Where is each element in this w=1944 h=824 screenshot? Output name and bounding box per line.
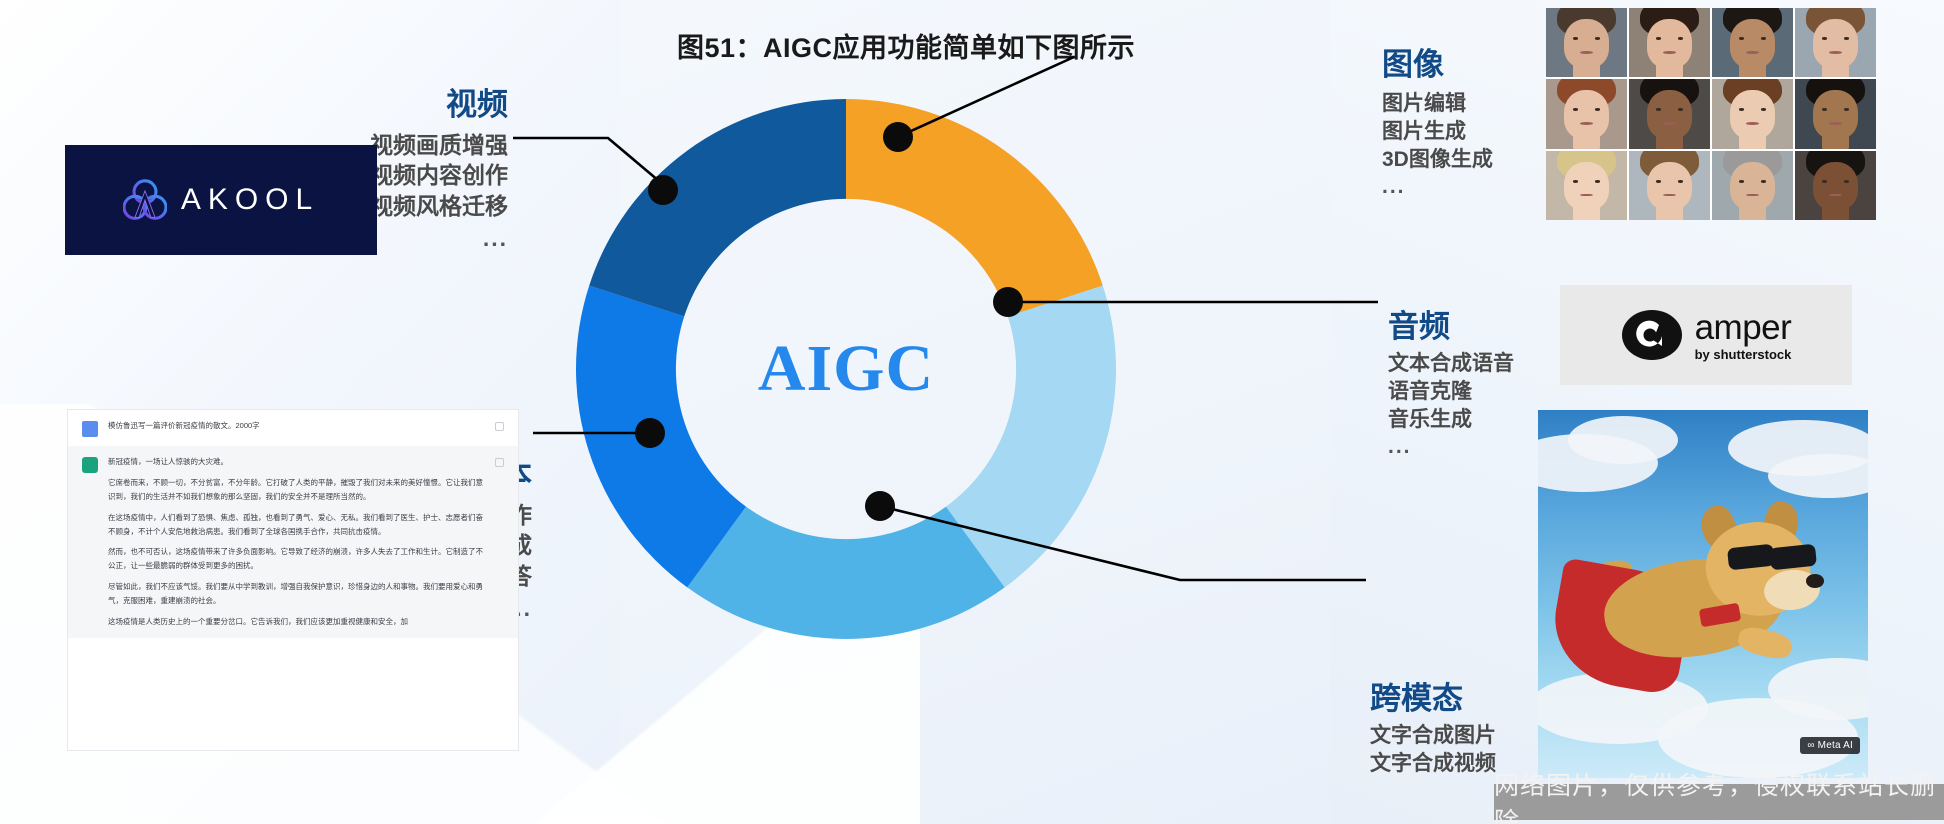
- amper-name: amper: [1695, 310, 1792, 345]
- amper-text-block: amper by shutterstock: [1695, 310, 1792, 361]
- generated-face-8: [1795, 79, 1876, 148]
- amper-subtitle: by shutterstock: [1695, 348, 1792, 361]
- donut-segment-视频[interactable]: [589, 99, 846, 316]
- chat-user-row: 模仿鲁迅写一篇评价新冠疫情的散文。2000字: [68, 410, 518, 446]
- amper-circle-icon: [1621, 309, 1683, 361]
- generated-faces-grid: [1546, 8, 1876, 220]
- chat-bot-paragraph-3: 然而，也不可否认，这场疫情带来了许多负面影响。它导致了经济的崩溃，许多人失去了工…: [108, 545, 485, 573]
- chat-bot-paragraph-4: 尽管如此，我们不应该气馁。我们要从中学到教训，增强自我保护意识，珍惜身边的人和事…: [108, 580, 485, 608]
- chat-bot-paragraph-1: 它席卷而来，不顾一切，不分贫富，不分年龄。它打破了人类的平静，摧毁了我们对未来的…: [108, 476, 485, 504]
- user-avatar-icon: [82, 421, 98, 437]
- generated-face-3: [1712, 8, 1793, 77]
- donut-svg: [561, 84, 1131, 654]
- meta-ai-watermark: ∞ Meta AI: [1800, 737, 1860, 754]
- dog-paw: [1736, 624, 1795, 662]
- generated-face-1: [1546, 8, 1627, 77]
- generated-face-4: [1795, 8, 1876, 77]
- generated-face-7: [1712, 79, 1793, 148]
- akool-wordmark: AKOOL: [181, 183, 319, 217]
- akool-trefoil-icon: [123, 179, 167, 221]
- chat-bot-paragraph-5: 这场疫情是人类历史上的一个重要分岔口。它告诉我们，我们应该更加重视健康和安全，加: [108, 615, 485, 629]
- cloud-shape: [1568, 416, 1678, 464]
- cloud-shape: [1768, 454, 1868, 498]
- generated-face-2: [1629, 8, 1710, 77]
- dog-nose: [1806, 574, 1824, 588]
- generated-face-9: [1546, 151, 1627, 220]
- assistant-avatar-icon: [82, 457, 98, 473]
- flying-dog-image: ∞ Meta AI: [1538, 410, 1868, 778]
- generated-face-10: [1629, 151, 1710, 220]
- aigc-donut-chart: AIGC: [561, 84, 1131, 654]
- page-title: 图51：AIGC应用功能简单如下图所示: [556, 26, 1256, 65]
- donut-segment-跨模态[interactable]: [687, 507, 1004, 639]
- generated-face-11: [1712, 151, 1793, 220]
- callout-video-heading: 视频: [318, 88, 508, 122]
- amper-logo-card: amper by shutterstock: [1560, 285, 1852, 385]
- chat-user-message: 模仿鲁迅写一篇评价新冠疫情的散文。2000字: [108, 419, 485, 433]
- donut-segment-图像[interactable]: [846, 99, 1103, 316]
- site-watermark: 网络图片，仅供参考，侵权联系站长删除: [1494, 784, 1944, 820]
- chat-bot-paragraph-2: 在这场疫情中，人们看到了恐惧、焦虑、孤独，也看到了勇气、爱心、无私。我们看到了医…: [108, 511, 485, 539]
- copy-icon[interactable]: [495, 458, 504, 467]
- chat-bot-message: 新冠疫情，一场让人惊骇的大灾难。 它席卷而来，不顾一切，不分贫富，不分年龄。它打…: [108, 455, 485, 629]
- donut-segments: [576, 99, 1116, 639]
- akool-logo-card: AKOOL: [65, 145, 377, 255]
- chat-bot-paragraph-0: 新冠疫情，一场让人惊骇的大灾难。: [108, 455, 485, 469]
- generated-face-5: [1546, 79, 1627, 148]
- chatgpt-screenshot: 模仿鲁迅写一篇评价新冠疫情的散文。2000字 新冠疫情，一场让人惊骇的大灾难。 …: [68, 410, 518, 750]
- generated-face-12: [1795, 151, 1876, 220]
- chat-bot-row: 新冠疫情，一场让人惊骇的大灾难。 它席卷而来，不顾一切，不分贫富，不分年龄。它打…: [68, 446, 518, 638]
- generated-face-6: [1629, 79, 1710, 148]
- edit-icon[interactable]: [495, 422, 504, 431]
- dog-sunglasses-bridge: [1768, 552, 1780, 557]
